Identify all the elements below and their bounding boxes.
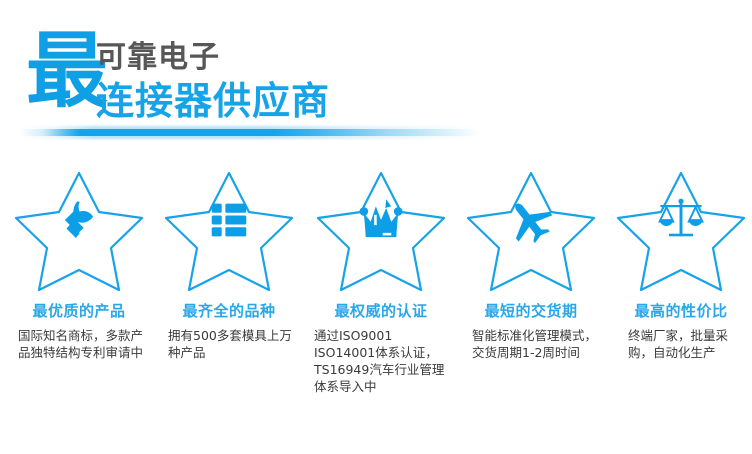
feature-star-badge (606, 168, 752, 296)
feature-title: 最优质的产品 (4, 302, 154, 320)
crown-icon (354, 193, 408, 247)
headline-line-2: 连接器供应商 (96, 80, 330, 122)
banner-header: 最 可靠电子 连接器供应商 (0, 0, 752, 150)
feature-description: 终端厂家，批量采购，自动化生产 (606, 327, 752, 361)
feature-description: 通过ISO9001 ISO14001体系认证，TS16949汽车行业管理体系导入… (306, 327, 456, 395)
feature-description: 智能标准化管理模式，交货周期1-2周时间 (456, 327, 606, 361)
headline-line-1: 可靠电子 (96, 41, 220, 75)
advantages-banner: 最 可靠电子 连接器供应商 (0, 0, 752, 454)
airplane-icon (504, 193, 558, 247)
feature-item: 最高的性价比 终端厂家，批量采购，自动化生产 (606, 168, 752, 361)
feature-title: 最齐全的品种 (154, 302, 304, 320)
feature-star-badge (456, 168, 606, 296)
feature-star-badge (154, 168, 304, 296)
feature-description: 国际知名商标，多款产品独特结构专利审请中 (4, 327, 154, 361)
satellite-dish-icon (52, 193, 106, 247)
feature-title: 最权威的认证 (306, 302, 456, 320)
feature-star-badge (4, 168, 154, 296)
feature-star-badge (306, 168, 456, 296)
feature-item: 最短的交货期 智能标准化管理模式，交货周期1-2周时间 (456, 168, 606, 361)
balance-scale-icon (654, 193, 708, 247)
feature-item: 最权威的认证 通过ISO9001 ISO14001体系认证，TS16949汽车行… (306, 168, 456, 395)
feature-title: 最短的交货期 (456, 302, 606, 320)
feature-title: 最高的性价比 (606, 302, 752, 320)
feature-description: 拥有500多套模具上万种产品 (154, 327, 304, 361)
feature-item: 最齐全的品种 拥有500多套模具上万种产品 (154, 168, 304, 361)
feature-item: 最优质的产品 国际知名商标，多款产品独特结构专利审请中 (4, 168, 154, 361)
header-divider-line (20, 129, 480, 136)
list-grid-icon (202, 193, 256, 247)
features-row: 最优质的产品 国际知名商标，多款产品独特结构专利审请中 (0, 168, 752, 395)
